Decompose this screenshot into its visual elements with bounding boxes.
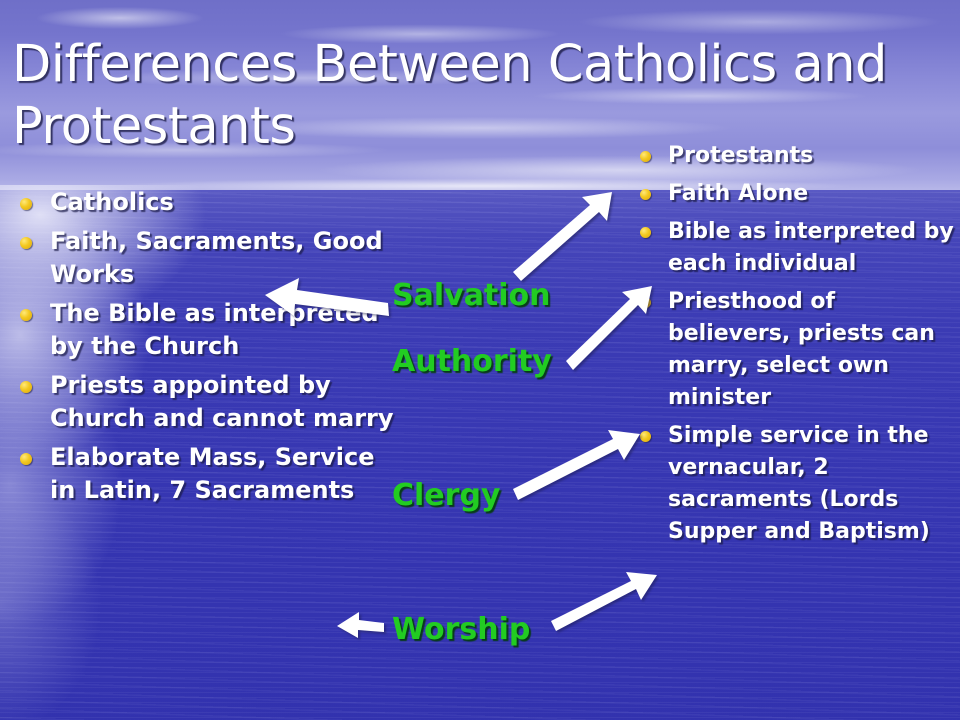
- slide-canvas: Differences Between Catholics and Protes…: [0, 0, 960, 720]
- arrow-worship-to-catholics: [337, 612, 384, 638]
- arrow-salvation-to-catholics: [265, 278, 389, 316]
- arrow-clergy-to-protestants: [513, 430, 640, 500]
- arrow-worship-to-protestants: [551, 572, 657, 631]
- arrow-overlay: [0, 0, 960, 720]
- arrow-authority-to-protestants: [566, 286, 652, 370]
- arrow-salvation-to-protestants: [513, 192, 612, 281]
